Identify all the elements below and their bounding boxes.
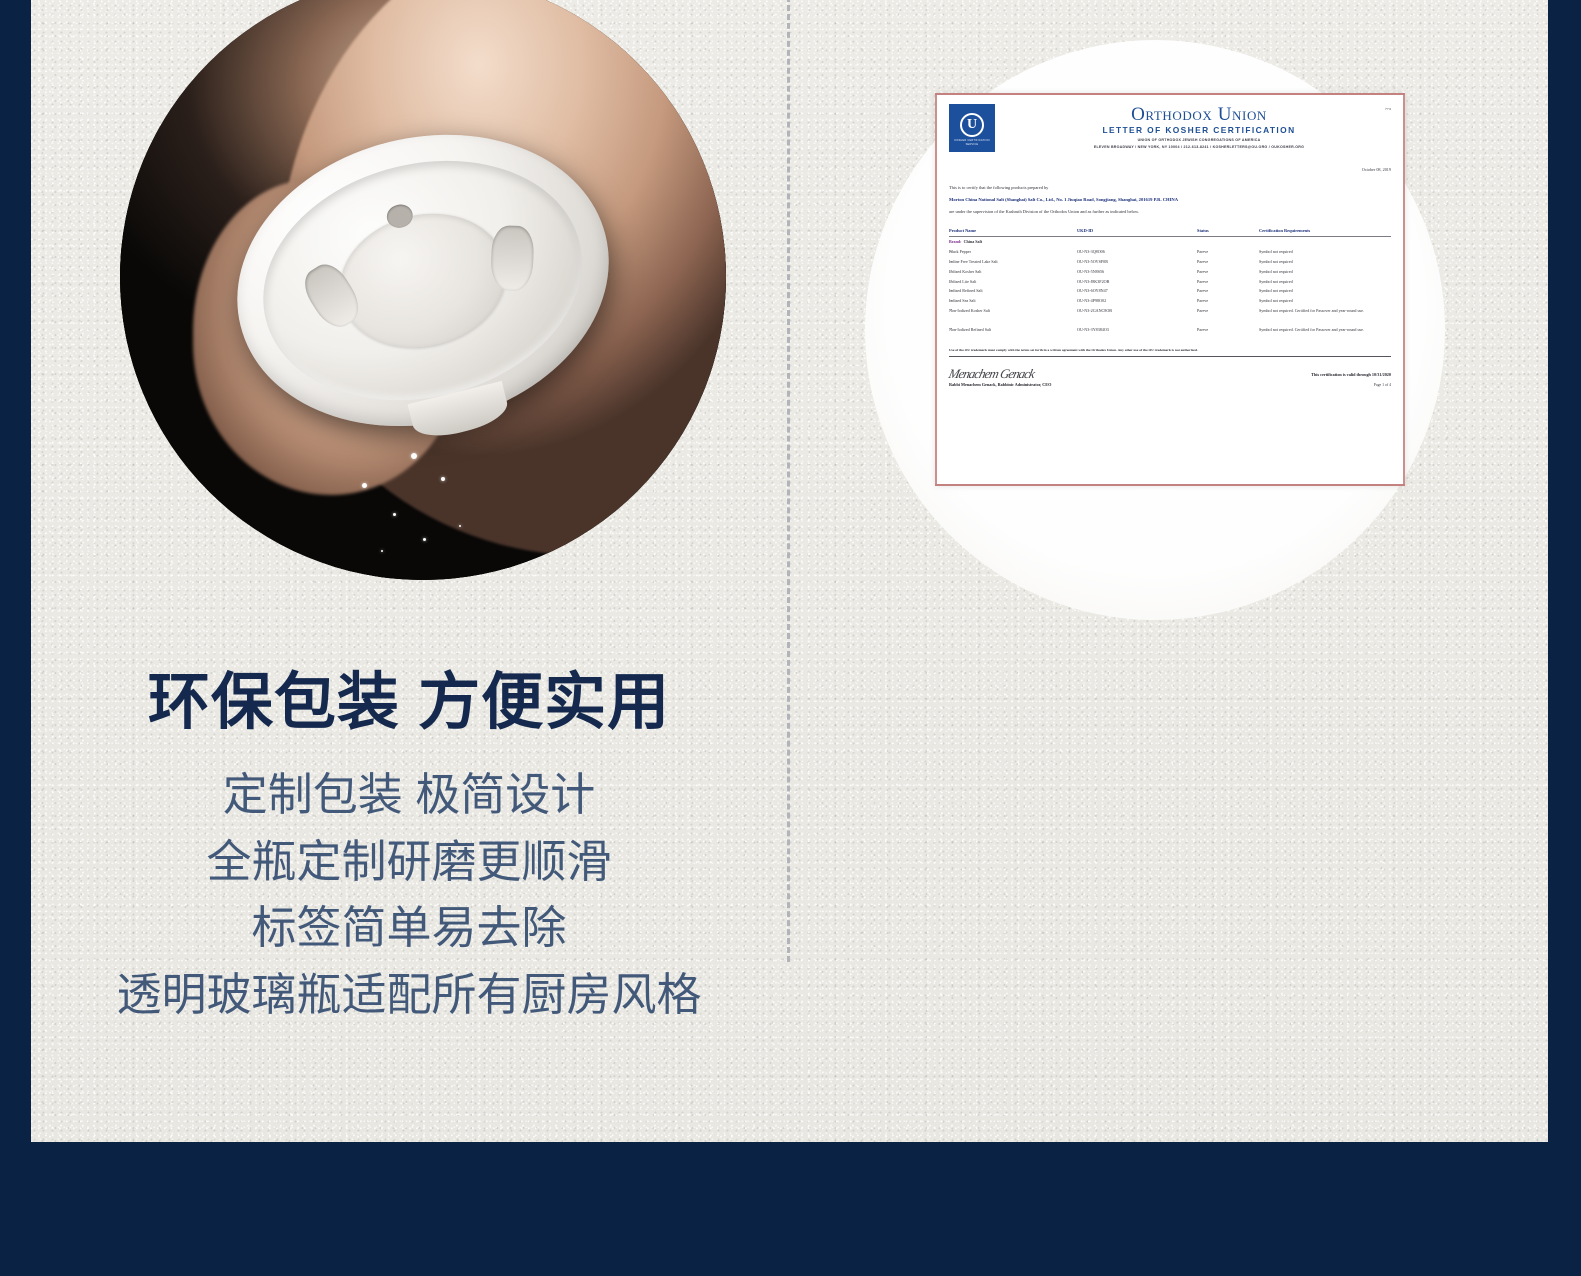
cell-ukd-id: OU-N3-6OY8N47 bbox=[1077, 286, 1197, 296]
hand-holding-salt-shaker-cap-photo bbox=[120, 0, 726, 580]
cell-requirements: Symbol not required bbox=[1259, 286, 1391, 296]
column-divider bbox=[787, 0, 790, 962]
hand-thumb-shape bbox=[362, 0, 544, 138]
cell-requirements: Symbol not required bbox=[1259, 276, 1391, 286]
left-feature-sublines: 定制包装 极简设计 全瓶定制研磨更顺滑 标签简单易去除 透明玻璃瓶适配所有厨房风… bbox=[31, 762, 787, 1028]
signatory-name: Rabbi Menachem Genack, Rabbinic Administ… bbox=[949, 382, 1051, 387]
table-row: Iodized Lite SaltOU-N3-J8K3F2OBPareveSym… bbox=[949, 276, 1391, 286]
table-row: Non-Iodized Refined SaltOU-N3-3Y8384O3Pa… bbox=[949, 324, 1391, 334]
hebrew-mark: ב״ה bbox=[1385, 106, 1391, 111]
signature-mark: Menachem Genack bbox=[948, 367, 1053, 380]
table-row: Iodized Kosher SaltOU-N3-5N8S56PareveSym… bbox=[949, 266, 1391, 276]
left-subline: 透明玻璃瓶适配所有厨房风格 bbox=[31, 962, 787, 1029]
cell-requirements: Symbol not required bbox=[1259, 296, 1391, 306]
table-row: Black PepperOU-N3-3Q8O06PareveSymbol not… bbox=[949, 247, 1391, 257]
right-feature-heading: OU认证 品质无担忧 bbox=[1543, 651, 1548, 741]
salt-grain bbox=[411, 453, 417, 459]
table-row: Iodine Free Treated Lake SaltOU-N3-5OVSF… bbox=[949, 257, 1391, 267]
brand-label: Brand: bbox=[949, 239, 962, 244]
salt-grain bbox=[381, 550, 383, 552]
product-detail-page: 环保包装 方便实用 定制包装 极简设计 全瓶定制研磨更顺滑 标签简单易去除 透明… bbox=[0, 0, 1581, 1276]
cell-requirements: Symbol not required. Certified for Passo… bbox=[1259, 305, 1391, 315]
salt-grain bbox=[423, 538, 426, 541]
cell-status: Pareve bbox=[1197, 296, 1259, 306]
cell-ukd-id: OU-N3-J8K3F2OB bbox=[1077, 276, 1197, 286]
brand-row: Brand: China Salt bbox=[949, 237, 1391, 247]
ou-logo-caption: KOSHER CERTIFICATION SERVICE bbox=[949, 139, 995, 147]
certificate-page-number: Page 1 of 4 bbox=[1311, 383, 1391, 387]
cell-requirements: Symbol not required bbox=[1259, 266, 1391, 276]
cell-status: Pareve bbox=[1197, 305, 1259, 315]
bottle-cap-center-disc bbox=[326, 196, 521, 364]
table-spacer-row bbox=[949, 315, 1391, 324]
cell-ukd-id: OU-N3-3Y8384O3 bbox=[1077, 324, 1197, 334]
right-feature-sublines: 家庭“煮夫”的理想拍档 让您和家人一起享受美味 bbox=[1543, 780, 1548, 913]
cell-status: Pareve bbox=[1197, 257, 1259, 267]
certificate-footer: Menachem Genack Rabbi Menachem Genack, R… bbox=[949, 367, 1391, 387]
certificate-address-line: ELEVEN BROADWAY / NEW YORK, NY 10004 / 2… bbox=[1007, 145, 1391, 149]
ou-logo-letter: U bbox=[960, 113, 984, 137]
cell-ukd-id: OU-N3-5OVSF0R bbox=[1077, 257, 1197, 267]
left-subline: 标签简单易去除 bbox=[31, 895, 787, 962]
cell-status: Pareve bbox=[1197, 276, 1259, 286]
cell-product-name: Iodized Lite Salt bbox=[949, 276, 1077, 286]
cell-ukd-id: OU-N3-4P98O02 bbox=[1077, 296, 1197, 306]
certificate-intro-line: This is to certify that the following pr… bbox=[949, 185, 1391, 190]
cell-ukd-id: OU-N3-2GANC8OB bbox=[1077, 305, 1197, 315]
cell-status: Pareve bbox=[1197, 286, 1259, 296]
certificate-letterhead: U KOSHER CERTIFICATION SERVICE Orthodox … bbox=[949, 104, 1391, 152]
certificate-company-name: Morton China National Salt (Shanghai) Sa… bbox=[949, 197, 1391, 202]
right-subline: 让您和家人一起享受美味 bbox=[1543, 847, 1548, 914]
ou-kosher-logo-icon: U KOSHER CERTIFICATION SERVICE bbox=[949, 104, 995, 152]
certificate-title: Orthodox Union bbox=[1007, 105, 1391, 124]
certificate-supervision-line: are under the supervision of the Kashrut… bbox=[949, 209, 1391, 214]
certificate-validity-block: This certification is valid through 10/3… bbox=[1311, 372, 1391, 387]
left-subline: 全瓶定制研磨更顺滑 bbox=[31, 829, 787, 896]
left-subline: 定制包装 极简设计 bbox=[31, 762, 787, 829]
certificate-subtitle: LETTER OF KOSHER CERTIFICATION bbox=[1007, 125, 1391, 135]
kosher-certification-document: U KOSHER CERTIFICATION SERVICE Orthodox … bbox=[935, 93, 1405, 486]
cell-status: Pareve bbox=[1197, 266, 1259, 276]
cell-product-name: Iodized Sea Salt bbox=[949, 296, 1077, 306]
certificate-valid-through: This certification is valid through 10/3… bbox=[1311, 372, 1391, 377]
cell-requirements: Symbol not required. Certified for Passo… bbox=[1259, 324, 1391, 334]
certificate-title-block: Orthodox Union LETTER OF KOSHER CERTIFIC… bbox=[1007, 105, 1391, 149]
paper-panel: 环保包装 方便实用 定制包装 极简设计 全瓶定制研磨更顺滑 标签简单易去除 透明… bbox=[31, 0, 1548, 1142]
column-header-product-name: Product Name bbox=[949, 228, 1077, 237]
cell-product-name: Non-Iodized Refined Salt bbox=[949, 324, 1077, 334]
cell-requirements: Symbol not required bbox=[1259, 247, 1391, 257]
cell-product-name: Non-Iodized Kosher Salt bbox=[949, 305, 1077, 315]
table-header-row: Product Name UKD-ID Status Certification… bbox=[949, 228, 1391, 237]
cell-ukd-id: OU-N3-3Q8O06 bbox=[1077, 247, 1197, 257]
cell-product-name: Iodized Refined Salt bbox=[949, 286, 1077, 296]
signature-block: Menachem Genack Rabbi Menachem Genack, R… bbox=[949, 367, 1051, 387]
cell-status: Pareve bbox=[1197, 247, 1259, 257]
table-row: Iodized Sea SaltOU-N3-4P98O02PareveSymbo… bbox=[949, 296, 1391, 306]
left-feature-heading: 环保包装 方便实用 bbox=[31, 651, 787, 741]
certificate-org-line: UNION OF ORTHODOX JEWISH CONGREGATIONS O… bbox=[1007, 138, 1391, 142]
cell-status: Pareve bbox=[1197, 324, 1259, 334]
cell-product-name: Iodized Kosher Salt bbox=[949, 266, 1077, 276]
cell-ukd-id: OU-N3-5N8S56 bbox=[1077, 266, 1197, 276]
brand-name: China Salt bbox=[964, 239, 983, 244]
right-subline: 家庭“煮夫”的理想拍档 bbox=[1543, 780, 1548, 847]
certified-products-table: Product Name UKD-ID Status Certification… bbox=[949, 228, 1391, 334]
table-row: Non-Iodized Kosher SaltOU-N3-2GANC8OBPar… bbox=[949, 305, 1391, 315]
certificate-disclaimer: Use of the OU trademark must comply with… bbox=[949, 348, 1391, 357]
column-header-ukd-id: UKD-ID bbox=[1077, 228, 1197, 237]
column-header-status: Status bbox=[1197, 228, 1259, 237]
cell-product-name: Iodine Free Treated Lake Salt bbox=[949, 257, 1077, 267]
cell-product-name: Black Pepper bbox=[949, 247, 1077, 257]
certificate-date: October 08, 2019 bbox=[949, 167, 1391, 172]
column-header-requirements: Certification Requirements bbox=[1259, 228, 1391, 237]
bottle-cap-slot-right bbox=[490, 224, 534, 291]
table-row: Iodized Refined SaltOU-N3-6OY8N47PareveS… bbox=[949, 286, 1391, 296]
cell-requirements: Symbol not required bbox=[1259, 257, 1391, 267]
